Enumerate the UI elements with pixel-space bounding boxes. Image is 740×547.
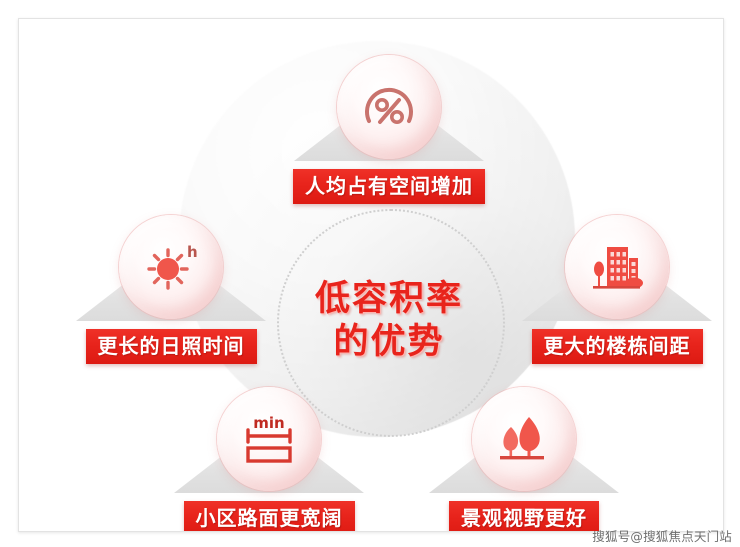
trees-icon [495, 411, 553, 467]
center-title-line-1: 低容积率 [315, 279, 463, 320]
node-road-width[interactable]: min 小区路面更宽阔 [139, 387, 399, 532]
label-sunlight-hours: 更长的日照时间 [86, 329, 257, 364]
node-landscape-view[interactable]: 景观视野更好 [394, 387, 654, 532]
node-building-spacing[interactable]: 更大的楼栋间距 [487, 215, 724, 364]
bubble-bottom-left[interactable]: min [217, 387, 321, 491]
label-landscape-view: 景观视野更好 [449, 501, 599, 532]
sun-hours-unit-text: h [187, 243, 198, 261]
road-width-icon: min [238, 410, 300, 468]
center-title-line-2: 的优势 [333, 322, 444, 363]
label-per-capita-space: 人均占有空间增加 [293, 169, 485, 204]
node-sunlight-hours[interactable]: h 更长的日照时间 [41, 215, 301, 364]
bubble-top[interactable] [337, 55, 441, 159]
infographic-frame: 低容积率 的优势 人均占有空间增加 [18, 18, 724, 532]
road-width-min-text: min [253, 414, 284, 432]
label-building-spacing: 更大的楼栋间距 [532, 329, 703, 364]
node-per-capita-space[interactable]: 人均占有空间增加 [259, 55, 519, 204]
percent-gauge-icon [361, 81, 417, 133]
sun-hours-icon: h [141, 240, 201, 294]
infographic-canvas: 低容积率 的优势 人均占有空间增加 [0, 0, 740, 547]
watermark: 搜狐号@搜狐焦点天门站 [592, 526, 732, 545]
label-road-width: 小区路面更宽阔 [184, 501, 355, 532]
bubble-bottom-right[interactable] [472, 387, 576, 491]
bubble-left[interactable]: h [119, 215, 223, 319]
buildings-icon [587, 239, 647, 295]
bubble-right[interactable] [565, 215, 669, 319]
